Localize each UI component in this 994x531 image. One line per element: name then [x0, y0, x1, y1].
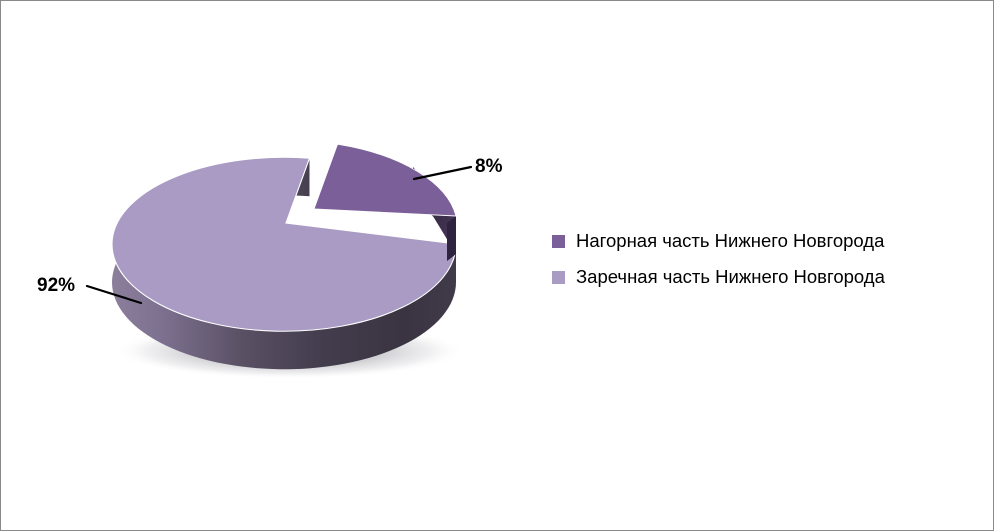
legend-item-zarechnaya[interactable]: Заречная часть Нижнего Новгорода — [552, 259, 982, 295]
legend-item-nagornaya[interactable]: Нагорная часть Нижнего Новгорода — [552, 223, 982, 259]
data-label-large-slice: 92% — [37, 275, 75, 297]
leader-line-8-percent — [414, 167, 471, 179]
slice-small-side-wall-end — [447, 216, 456, 261]
legend-swatch-zarechnaya — [552, 271, 565, 284]
data-label-small-slice: 8% — [475, 156, 502, 178]
pie-plot-area: 8% 92% — [1, 1, 541, 531]
chart-container: 8% 92% Нагорная часть Нижнего Новгорода … — [0, 0, 994, 531]
chart-legend: Нагорная часть Нижнего Новгорода Заречна… — [552, 223, 982, 295]
legend-label-nagornaya: Нагорная часть Нижнего Новгорода — [576, 232, 884, 251]
legend-swatch-nagornaya — [552, 235, 565, 248]
slice-small-top-face — [314, 144, 456, 216]
pie-chart-graphic — [1, 1, 541, 531]
legend-label-zarechnaya: Заречная часть Нижнего Новгорода — [576, 268, 885, 287]
